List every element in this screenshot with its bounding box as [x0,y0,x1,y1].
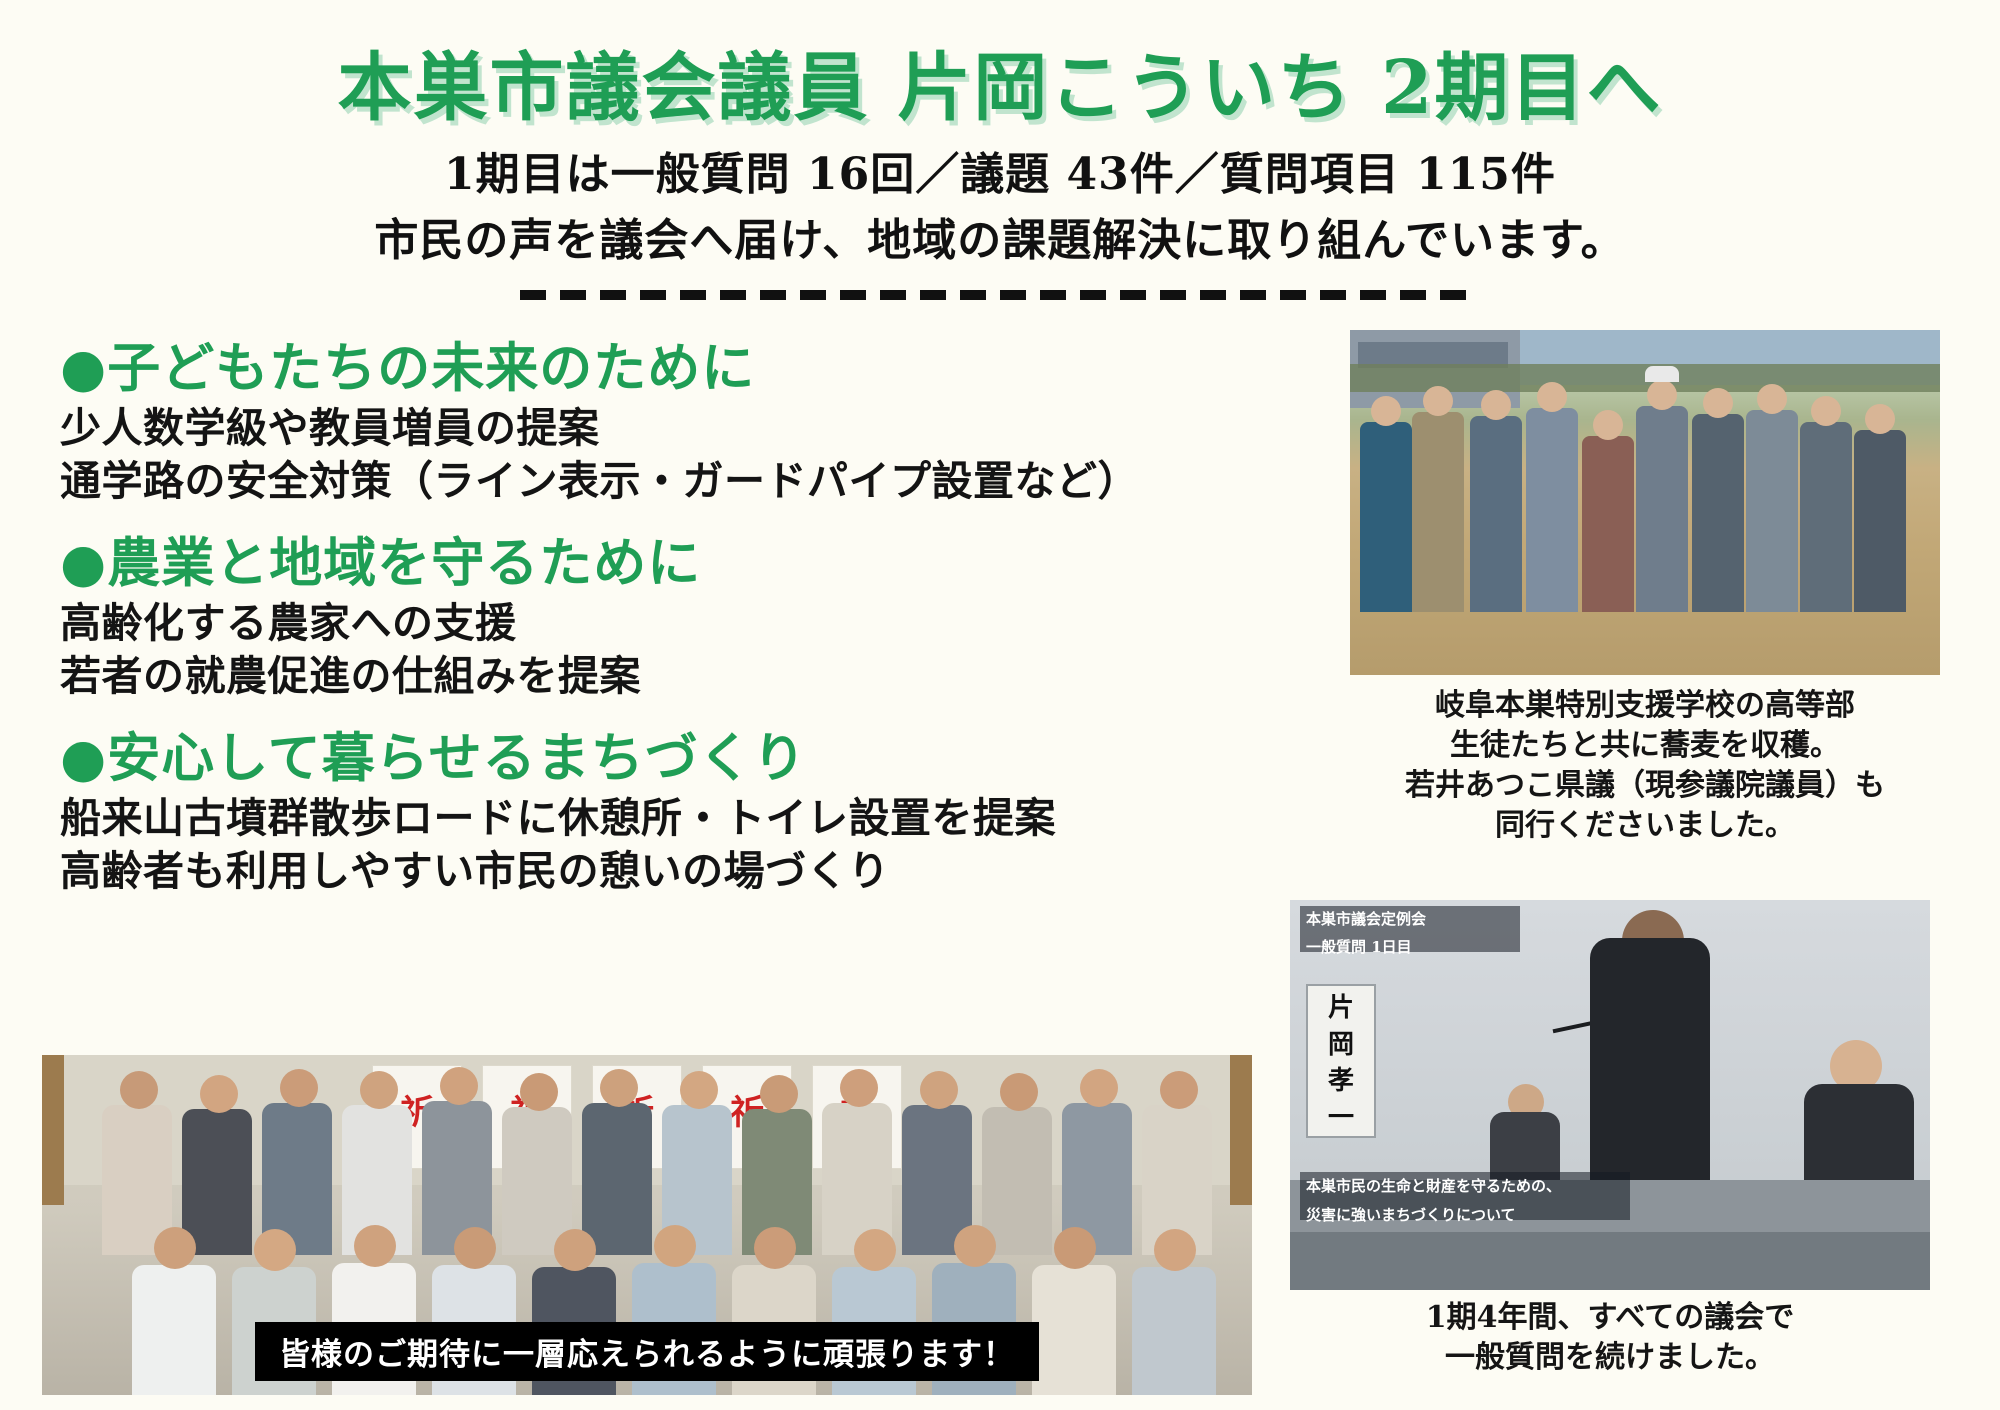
subtitle-line-2: 市民の声を議会へ届け、地域の課題解決に取り組んでいます。 [0,204,2000,268]
overlay-line: 一般質問 1日目 [1300,934,1520,962]
caption-line: 同行くださいました。 [1330,806,1960,846]
overlay-nameplate: 片 岡 孝 一 [1306,984,1376,1138]
section-heading-townbuilding: ●安心して暮らせるまちづくり [60,730,1060,786]
policy-line: 高齢者も利用しやすい市民の憩いの場づくり [60,845,1060,898]
flyer-page: 本巣市議会議員 片岡こういち 2期目へ 1期目は一般質問 16回／議題 43件／… [0,0,2000,1410]
overlay-line: 災害に強いまちづくりについて [1300,1201,1630,1230]
nameplate-char: 孝 [1308,1059,1374,1096]
policy-section-2: ●農業と地域を守るために 高齢化する農家への支援 若者の就農促進の仕組みを提案 [60,535,1060,704]
overlay-question-topic: 本巣市民の生命と財産を守るための、 災害に強いまちづくりについて [1300,1172,1630,1220]
policy-section-3: ●安心して暮らせるまちづくり 船来山古墳群散歩ロードに休憩所・トイレ設置を提案 … [60,730,1060,899]
nameplate-char: 片 [1308,986,1374,1023]
caption-field-photo: 岐阜本巣特別支援学校の高等部 生徒たちと共に蕎麦を収穫。 若井あつこ県議（現参議… [1330,686,1960,846]
nameplate-char: 一 [1308,1096,1374,1133]
caption-line: 1期4年間、すべての議会で [1290,1298,1930,1338]
caption-line: 一般質問を続けました。 [1290,1338,1930,1378]
photo-people-group [1360,392,1930,612]
section-heading-children: ●子どもたちの未来のために [60,340,1060,396]
policy-section-1: ●子どもたちの未来のために 少人数学級や教員増員の提案 通学路の安全対策（ライン… [60,340,1060,509]
caption-line: 生徒たちと共に蕎麦を収穫。 [1330,726,1960,766]
policy-line: 若者の就農促進の仕組みを提案 [60,650,1060,703]
photo-council-session: 本巣市議会定例会 一般質問 1日目 片 岡 孝 一 本巣市民の生命と財産を守るた… [1290,900,1930,1290]
dashed-divider [520,290,1480,300]
overlay-line: 本巣市議会定例会 [1300,906,1520,934]
overlay-session-title: 本巣市議会定例会 一般質問 1日目 [1300,906,1520,952]
policy-line: 船来山古墳群散歩ロードに休憩所・トイレ設置を提案 [60,792,1060,845]
photo-supporters-group: 祈 祈 祈 祈 祈 [42,1055,1252,1395]
overlay-line: 本巣市民の生命と財産を守るための、 [1300,1172,1630,1201]
photo-desk-front [1290,1232,1930,1290]
caption-line: 若井あつこ県議（現参議院議員）も [1330,766,1960,806]
photo-field-harvest [1350,330,1940,675]
policy-line: 高齢化する農家への支援 [60,597,1060,650]
photo-speaker-body [1590,938,1710,1188]
policy-line: 通学路の安全対策（ライン表示・ガードパイプ設置など） [60,455,1060,508]
policy-line: 少人数学級や教員増員の提案 [60,402,1060,455]
caption-council-photo: 1期4年間、すべての議会で 一般質問を続けました。 [1290,1298,1930,1378]
photo-banner-text: 皆様のご期待に一層応えられるように頑張ります！ [255,1322,1039,1381]
policy-list: ●子どもたちの未来のために 少人数学級や教員増員の提案 通学路の安全対策（ライン… [60,340,1060,898]
caption-line: 岐阜本巣特別支援学校の高等部 [1330,686,1960,726]
page-title: 本巣市議会議員 片岡こういち 2期目へ [0,28,2000,135]
nameplate-char: 岡 [1308,1023,1374,1060]
subtitle-line-1: 1期目は一般質問 16回／議題 43件／質問項目 115件 [0,138,2000,202]
section-heading-agriculture: ●農業と地域を守るために [60,535,1060,591]
